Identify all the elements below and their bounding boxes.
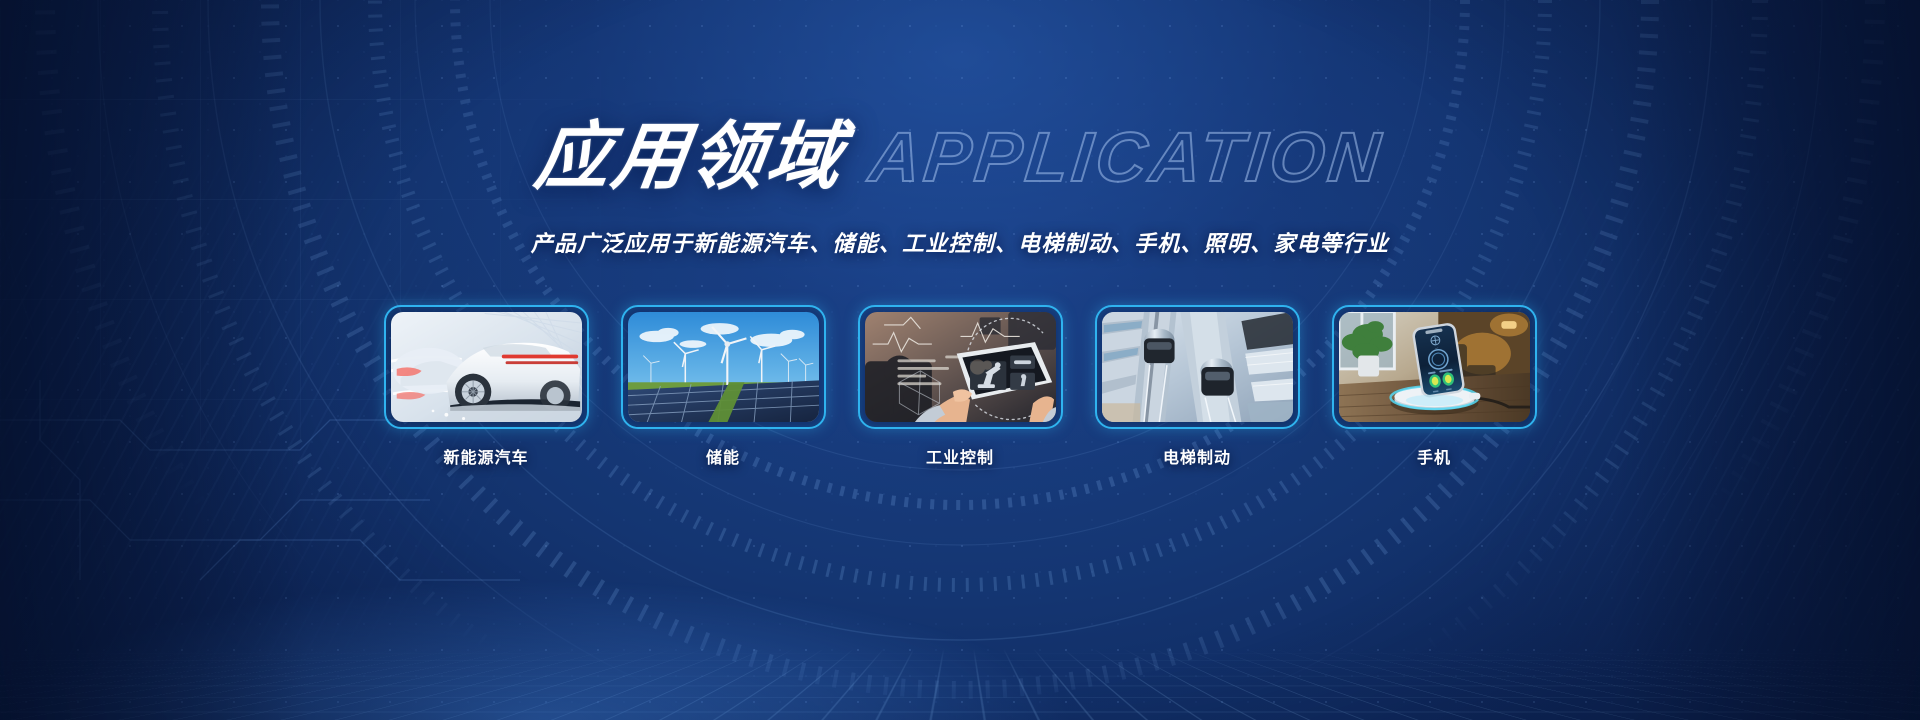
banner-heading: 应用领域 APPLICATION [0,120,1920,194]
card-label: 新能源汽车 [384,444,589,468]
application-banner: 应用领域 APPLICATION 产品广泛应用于新能源汽车、储能、工业控制、电梯… [0,0,1920,720]
application-card-new-energy-vehicle[interactable]: 新能源汽车 [384,305,589,468]
thumbnail-elevator-braking [1102,312,1293,422]
card-frame[interactable] [1095,305,1300,429]
page-title-cn: 应用领域 [531,120,849,194]
application-card-mobile-phone[interactable]: — [1332,305,1537,468]
card-label: 手机 [1332,444,1537,468]
card-frame[interactable] [384,305,589,429]
card-frame[interactable] [621,305,826,429]
application-card-elevator-braking[interactable]: 电梯制动 [1095,305,1300,468]
thumbnail-new-energy-vehicle [391,312,582,422]
card-label: 储能 [621,444,826,468]
application-card-list: 新能源汽车 [0,305,1920,468]
thumbnail-mobile-phone: — [1339,312,1530,422]
banner-subtitle: 产品广泛应用于新能源汽车、储能、工业控制、电梯制动、手机、照明、家电等行业 [0,226,1920,258]
card-frame[interactable]: — [1332,305,1537,429]
card-frame[interactable] [858,305,1063,429]
page-title-en: APPLICATION [867,122,1388,192]
application-card-energy-storage[interactable]: 储能 [621,305,826,468]
application-card-industrial-control[interactable]: 工业控制 [858,305,1063,468]
banner-content: 应用领域 APPLICATION 产品广泛应用于新能源汽车、储能、工业控制、电梯… [0,0,1920,720]
thumbnail-energy-storage [628,312,819,422]
card-label: 工业控制 [858,444,1063,468]
thumbnail-industrial-control [865,312,1056,422]
card-label: 电梯制动 [1095,444,1300,468]
